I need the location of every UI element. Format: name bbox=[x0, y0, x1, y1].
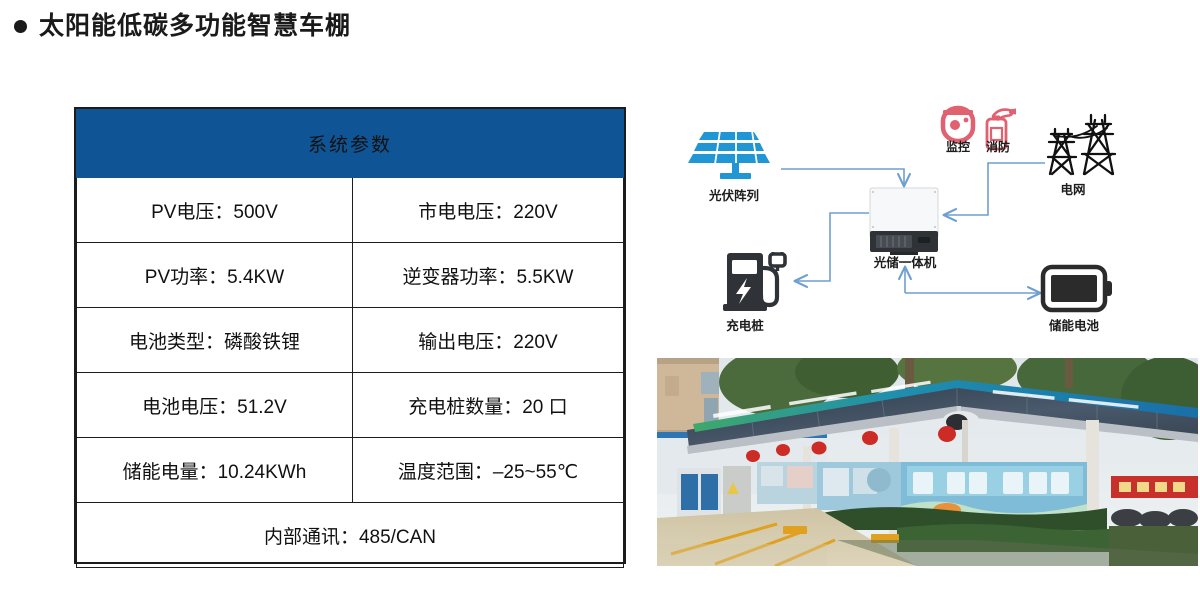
security-camera-icon bbox=[943, 108, 973, 141]
flow-inverter-to-charger bbox=[795, 213, 869, 281]
cell-battery-type: 电池类型：磷酸铁锂 bbox=[77, 308, 353, 373]
bullet-icon bbox=[14, 20, 27, 33]
table-row: 电池类型：磷酸铁锂 输出电压：220V bbox=[77, 308, 624, 373]
page-title-text: 太阳能低碳多功能智慧车棚 bbox=[39, 14, 351, 39]
cell-grid-voltage: 市电电压：220V bbox=[352, 178, 623, 243]
transmission-tower-icon bbox=[1048, 115, 1115, 174]
table-row: 电池电压：51.2V 充电桩数量：20 口 bbox=[77, 373, 624, 438]
cell-temperature-range: 温度范围：–25~55℃ bbox=[352, 438, 623, 503]
cell-storage-capacity: 储能电量：10.24KWh bbox=[77, 438, 353, 503]
label-pv-array: 光伏阵列 bbox=[708, 188, 759, 203]
label-charging-pile: 充电桩 bbox=[726, 318, 764, 333]
table-row: 储能电量：10.24KWh 温度范围：–25~55℃ bbox=[77, 438, 624, 503]
battery-icon bbox=[1043, 267, 1112, 310]
cell-internal-communication: 内部通讯：485/CAN bbox=[77, 503, 624, 568]
system-parameters-table: 系统参数 PV电压：500V 市电电压：220V PV功率：5.4KW 逆变器功… bbox=[74, 107, 626, 564]
system-architecture-diagram: 光伏阵列 监控 消防 bbox=[655, 100, 1200, 352]
table-row: PV电压：500V 市电电压：220V bbox=[77, 178, 624, 243]
label-power-grid: 电网 bbox=[1060, 182, 1085, 197]
label-fire-protection: 消防 bbox=[986, 139, 1010, 154]
table-row: 内部通讯：485/CAN bbox=[77, 503, 624, 568]
page-title: 太阳能低碳多功能智慧车棚 bbox=[14, 14, 351, 39]
cell-pv-voltage: PV电压：500V bbox=[77, 178, 353, 243]
label-hybrid-inverter: 光储一体机 bbox=[873, 255, 937, 270]
table-header-cell: 系统参数 bbox=[77, 110, 624, 178]
label-monitoring: 监控 bbox=[946, 139, 970, 154]
inverter-icon bbox=[870, 188, 938, 255]
table-header-row: 系统参数 bbox=[77, 110, 624, 178]
flow-pv-to-inverter bbox=[781, 169, 904, 186]
table-row: PV功率：5.4KW 逆变器功率：5.5KW bbox=[77, 243, 624, 308]
charging-pile-icon bbox=[723, 252, 785, 311]
label-battery-storage: 储能电池 bbox=[1048, 318, 1100, 333]
flow-grid-to-inverter bbox=[944, 163, 1045, 215]
solar-panel-icon bbox=[688, 131, 770, 179]
cell-charger-count: 充电桩数量：20 口 bbox=[352, 373, 623, 438]
cell-battery-voltage: 电池电压：51.2V bbox=[77, 373, 353, 438]
cell-pv-power: PV功率：5.4KW bbox=[77, 243, 353, 308]
slide-page: 太阳能低碳多功能智慧车棚 系统参数 PV电压：500V 市电电压：220V PV… bbox=[0, 0, 1200, 605]
cell-inverter-power: 逆变器功率：5.5KW bbox=[352, 243, 623, 308]
carport-photo bbox=[657, 358, 1198, 566]
cell-output-voltage: 输出电压：220V bbox=[352, 308, 623, 373]
